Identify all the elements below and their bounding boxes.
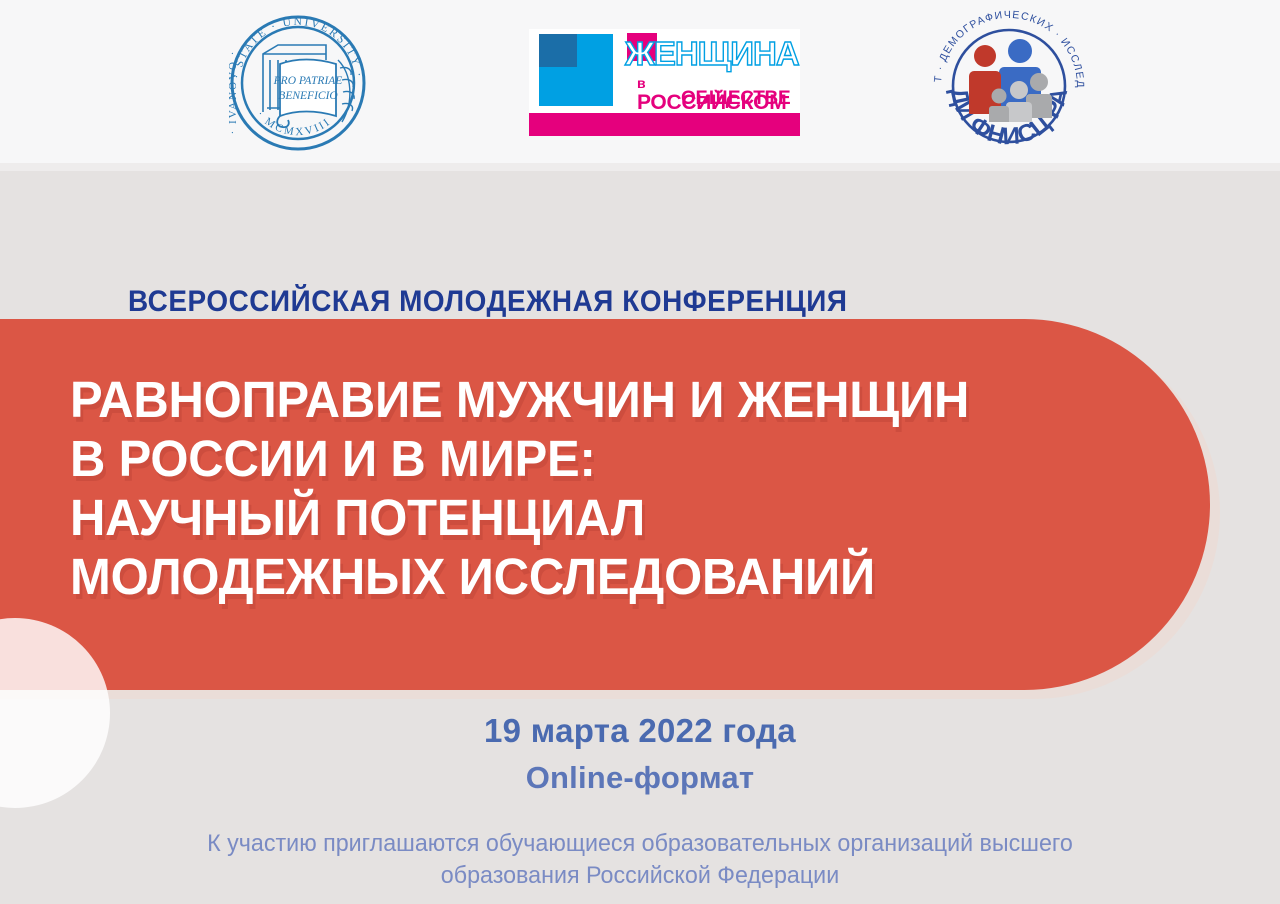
header-band: · STATE · UNIVERSITY · · MCMXVIII · PRO … (0, 0, 1280, 163)
journal-logo-word-obshchestve: ОБЩЕСТВЕ (681, 89, 790, 108)
invitation-line-2: образования Российской Федерации (19, 860, 1261, 892)
conference-title: РАВНОПРАВИЕ МУЖЧИН И ЖЕНЩИН В РОССИИ И В… (70, 370, 1130, 606)
ivanovo-state-university-seal-icon: · STATE · UNIVERSITY · · MCMXVIII · PRO … (218, 12, 378, 154)
journal-logo-word-v: в (637, 75, 645, 91)
title-line-3: НАУЧНЫЙ ПОТЕНЦИАЛ (70, 488, 1088, 547)
journal-woman-in-russian-society-logo-icon: ЖЕНЩИНА в РОССИЙСКОМ ОБЩЕСТВЕ (529, 29, 800, 136)
svg-text:· IVANOVO ·: · IVANOVO · (227, 50, 239, 135)
svg-text:PRO PATRIAE: PRO PATRIAE (273, 75, 343, 87)
svg-text:BENEFICIO: BENEFICIO (278, 90, 338, 102)
title-line-1: РАВНОПРАВИЕ МУЖЧИН И ЖЕНЩИН (70, 370, 1088, 429)
title-line-4: МОЛОДЕЖНЫХ ИССЛЕДОВАНИЙ (70, 547, 1088, 606)
title-line-2: В РОССИИ И В МИРЕ: (70, 429, 1088, 488)
invitation-line-1: К участию приглашаются обучающиеся образ… (19, 828, 1261, 860)
journal-logo-word-zhenshchina: ЖЕНЩИНА (625, 37, 799, 70)
journal-logo-magenta-bar (529, 113, 800, 136)
event-format: Online-формат (0, 760, 1280, 796)
idi-fnisc-ran-logo-icon: ИНСТИТУТ · ДЕМОГРАФИЧЕСКИХ · ИССЛЕДОВАНИ… (925, 8, 1093, 156)
logo-row: · STATE · UNIVERSITY · · MCMXVIII · PRO … (0, 0, 1280, 163)
event-date: 19 марта 2022 года (0, 712, 1280, 750)
invitation-text: К участию приглашаются обучающиеся образ… (19, 828, 1261, 892)
conference-kicker: ВСЕРОССИЙСКАЯ МОЛОДЕЖНАЯ КОНФЕРЕНЦИЯ (128, 285, 848, 319)
journal-logo-blue-square (539, 34, 577, 67)
